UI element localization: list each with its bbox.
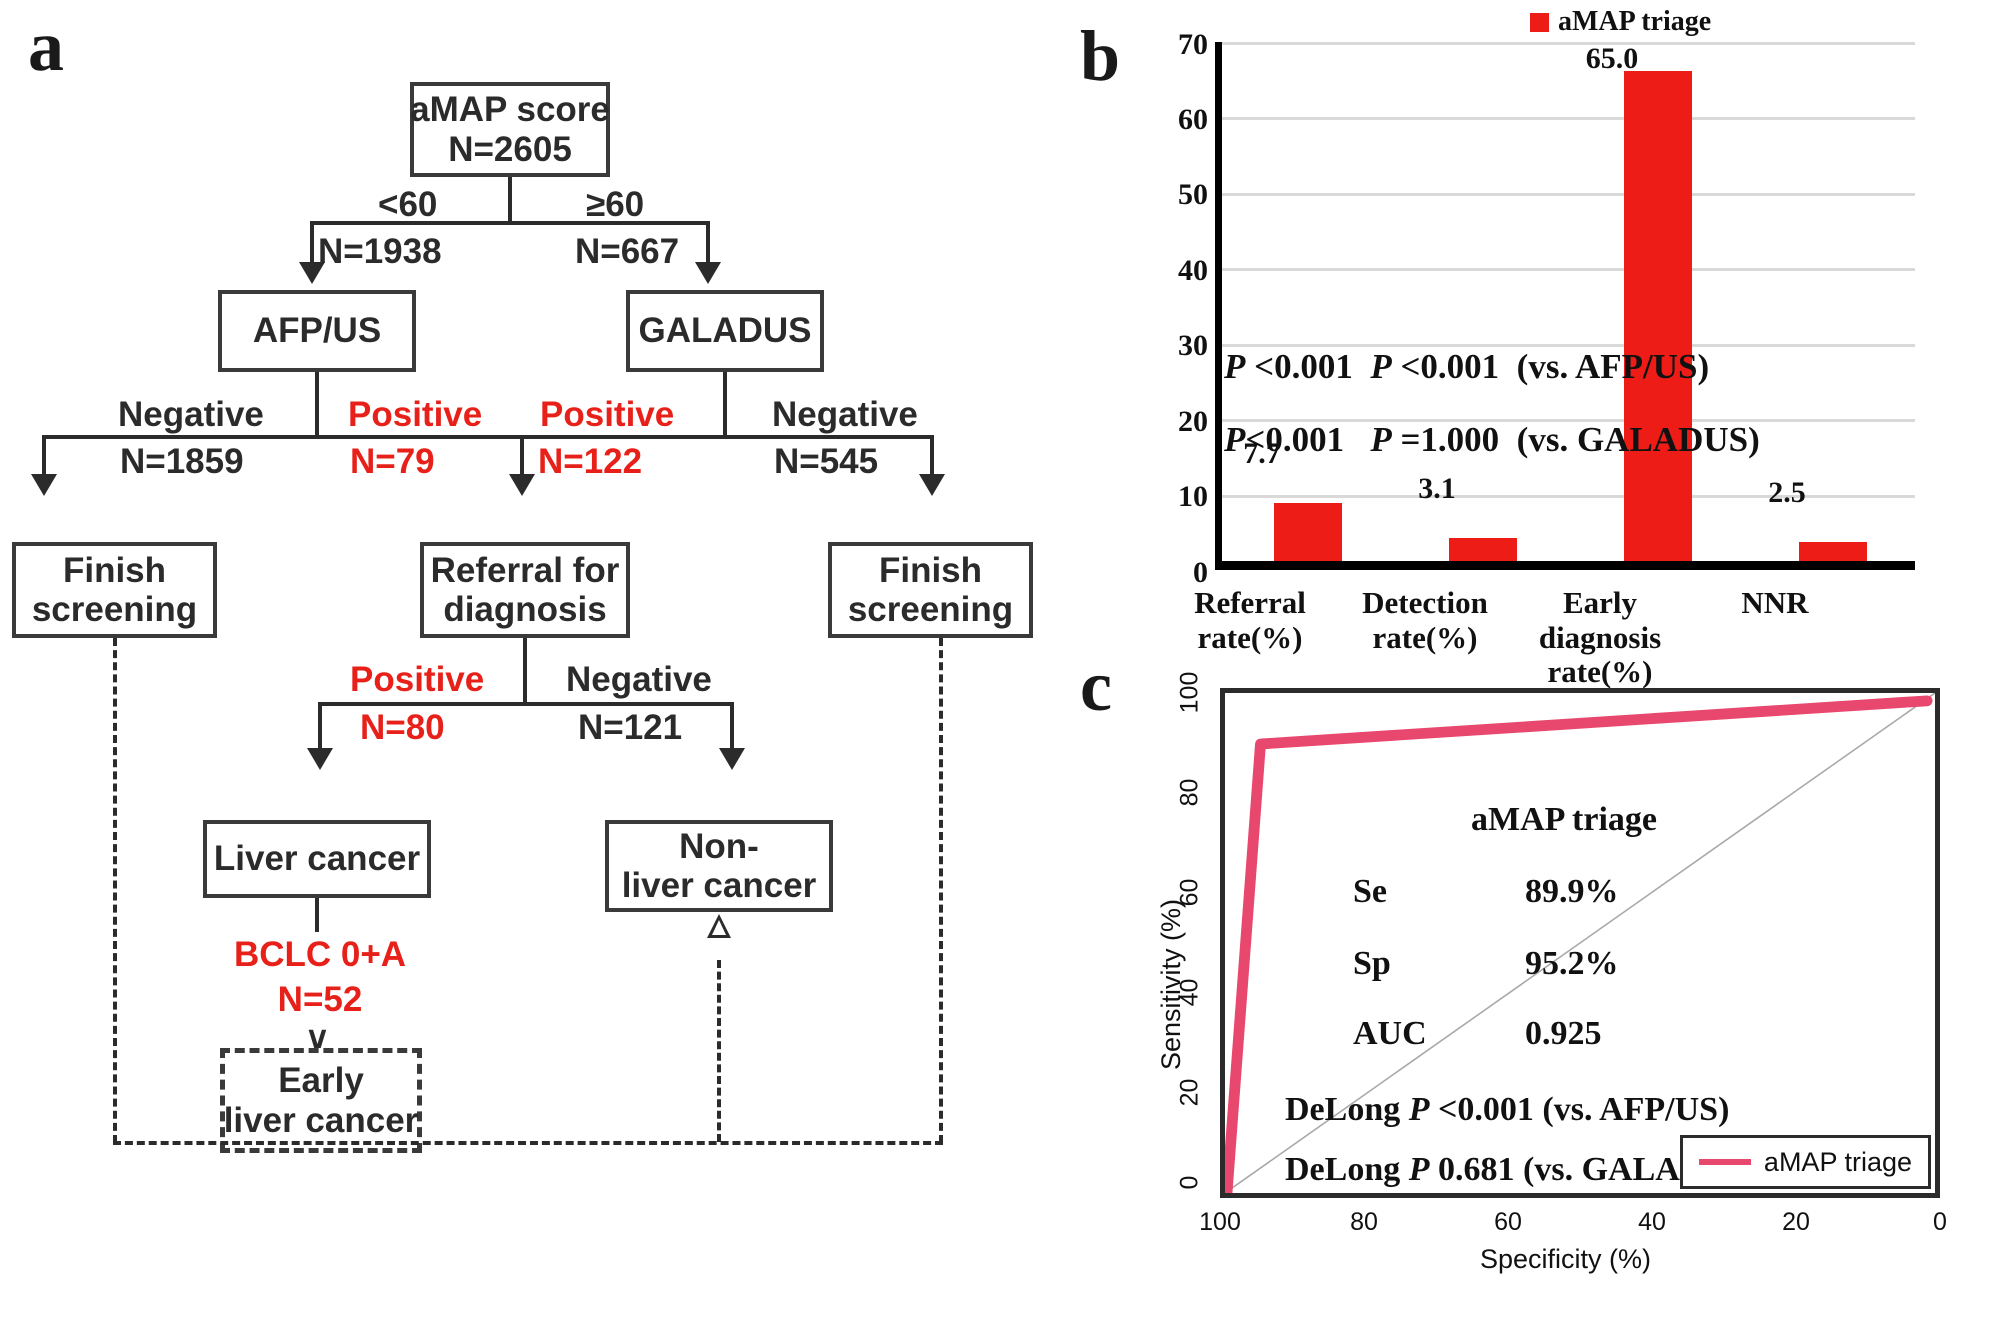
edge-ref-pos-drop [318, 702, 322, 754]
edge-gal-pos-arm [524, 435, 666, 439]
edge-afp-stem [315, 372, 319, 439]
edge-label-ge60: ≥60 [586, 185, 644, 224]
edge-label-lt60: <60 [378, 185, 437, 224]
roc-xtick-100: 100 [1190, 1208, 1250, 1237]
arrow-to-finish-right [919, 474, 945, 496]
edge-ref-neg-drop [730, 702, 734, 754]
node-afp-us: AFP/US [218, 290, 416, 372]
edge-n-afp-negative: N=1859 [120, 442, 244, 481]
roc-ytick-80: 80 [1176, 763, 1205, 823]
panel-a-letter: a [28, 10, 64, 82]
cat3-l1: NNR [1705, 586, 1845, 621]
node-finish-left-line1: Finish [63, 551, 166, 590]
node-early-liver-cancer: Early liver cancer [220, 1048, 422, 1153]
roc-x-axis-title: Specificity (%) [1480, 1244, 1651, 1275]
roc-stat-value-sp: 95.2% [1525, 945, 1619, 983]
node-finish-right-line2: screening [848, 590, 1013, 629]
edge-label-afp-negative: Negative [118, 395, 264, 434]
edge-label-gal-positive: Positive [540, 395, 674, 434]
panel-a-flowchart: a aMAP score N=2605 <60 N=1938 ≥60 N=667… [0, 0, 1060, 1317]
bar-chart-legend: aMAP triage [1530, 6, 1711, 38]
edge-n-lt60: N=1938 [318, 232, 442, 271]
bar-annotation-vs-galadus: P<0.001 P =1.000 (vs. GALADUS) [1224, 420, 1760, 460]
bar-early-diagnosis-rate [1624, 71, 1692, 561]
b-ytick-10: 10 [1138, 480, 1208, 514]
edge-label-ref-positive: Positive [350, 660, 484, 699]
cat1-l1: Detection [1355, 586, 1495, 621]
roc-ytick-100: 100 [1176, 663, 1205, 723]
edge-n-ref-positive: N=80 [360, 708, 445, 747]
node-liver-cancer-label: Liver cancer [214, 839, 420, 878]
b-ytick-20: 20 [1138, 405, 1208, 439]
edge-ref-neg-arm [582, 702, 734, 706]
bar-value-detection-rate: 3.1 [1389, 472, 1485, 506]
roc-stats-header: aMAP triage [1471, 801, 1657, 839]
edge-label-bclc: BCLC 0+A [225, 935, 415, 974]
roc-stat-value-se: 89.9% [1525, 873, 1619, 911]
bar-referral-rate [1274, 503, 1342, 561]
roc-xtick-80: 80 [1334, 1208, 1394, 1237]
edge-n-ref-negative: N=121 [578, 708, 682, 747]
cat2-l1: Early [1530, 586, 1670, 621]
arrow-up-to-non-liver-cancer [707, 914, 731, 938]
roc-stat-value-auc: 0.925 [1525, 1015, 1602, 1053]
b-ytick-70: 70 [1138, 28, 1208, 62]
edge-referral-stem [523, 638, 527, 706]
bar-category-nnr: NNR [1705, 586, 1845, 621]
cat0-l1: Referral [1180, 586, 1320, 621]
roc-xtick-60: 60 [1478, 1208, 1538, 1237]
dashed-path-bottom [113, 1141, 943, 1145]
roc-ytick-0: 0 [1176, 1153, 1205, 1213]
node-finish-left-line2: screening [32, 590, 197, 629]
node-amap-score-line2: N=2605 [448, 130, 572, 169]
edge-liver-stem [315, 898, 319, 932]
node-galadus: GALADUS [626, 290, 824, 372]
node-referral-line1: Referral for [431, 551, 620, 590]
panel-b-letter: b [1080, 20, 1120, 92]
panel-c-roc-curve: c Sensitivity (%) 100 80 60 40 20 0 aMAP… [1060, 640, 2008, 1317]
edge-n-ge60: N=667 [575, 232, 679, 271]
b-gridline-50 [1222, 193, 1915, 196]
node-finish-screening-right: Finish screening [828, 542, 1033, 638]
b-ytick-40: 40 [1138, 254, 1208, 288]
edge-afp-tee [256, 435, 378, 439]
arrow-to-non-liver-cancer [719, 748, 745, 770]
bar-value-early-diagnosis-rate: 65.0 [1564, 42, 1660, 76]
node-finish-right-line1: Finish [879, 551, 982, 590]
edge-afp-pos-arm [376, 435, 524, 439]
b-ytick-60: 60 [1138, 103, 1208, 137]
legend-label-amap-triage: aMAP triage [1558, 6, 1711, 38]
node-galadus-label: GALADUS [638, 311, 811, 350]
bar-value-nnr: 2.5 [1739, 476, 1835, 510]
roc-xtick-20: 20 [1766, 1208, 1826, 1237]
edge-afp-neg-arm [42, 435, 258, 439]
node-non-liver-line1: Non- [679, 827, 759, 866]
roc-legend-label-amap-triage: aMAP triage [1764, 1147, 1912, 1178]
edge-label-ref-negative: Negative [566, 660, 712, 699]
roc-stat-label-sp: Sp [1353, 945, 1391, 983]
edge-root-tee [440, 221, 580, 225]
arrow-to-liver-cancer [307, 748, 333, 770]
bar-annotation-vs-afpus: P <0.001 P <0.001 (vs. AFP/US) [1224, 347, 1709, 387]
edge-referral-tee [466, 702, 584, 706]
edge-n-gal-positive: N=122 [538, 442, 642, 481]
edge-n-afp-positive: N=79 [350, 442, 435, 481]
edge-gal-tee [664, 435, 786, 439]
roc-annotation-delong-afpus: DeLong P <0.001 (vs. AFP/US) [1285, 1091, 1729, 1129]
dashed-path-to-non-liver [717, 960, 721, 1142]
roc-legend: aMAP triage [1680, 1135, 1931, 1189]
roc-stat-label-se: Se [1353, 873, 1387, 911]
node-early-liver-line1: Early [278, 1061, 364, 1100]
panel-b-bar-chart: b aMAP triage 70 60 50 40 30 20 10 0 7.7… [1060, 0, 2008, 640]
bar-nnr [1799, 542, 1867, 561]
node-non-liver-line2: liver cancer [622, 866, 817, 905]
node-amap-score-line1: aMAP score [410, 90, 610, 129]
node-early-liver-line2: liver cancer [224, 1101, 419, 1140]
b-ytick-50: 50 [1138, 178, 1208, 212]
b-gridline-60 [1222, 117, 1915, 120]
node-afp-us-label: AFP/US [253, 311, 381, 350]
roc-stat-label-auc: AUC [1353, 1015, 1427, 1053]
node-referral-for-diagnosis: Referral for diagnosis [420, 542, 630, 638]
node-referral-line2: diagnosis [443, 590, 606, 629]
edge-n-bclc: N=52 [225, 980, 415, 1019]
node-non-liver-cancer: Non- liver cancer [605, 820, 833, 912]
edge-gal-stem [723, 372, 727, 439]
edge-label-afp-positive: Positive [348, 395, 482, 434]
roc-ytick-20: 20 [1176, 1063, 1205, 1123]
arrow-to-referral [509, 474, 535, 496]
roc-ytick-60: 60 [1176, 863, 1205, 923]
node-amap-score: aMAP score N=2605 [410, 82, 610, 177]
arrow-to-finish-left [31, 474, 57, 496]
b-gridline-40 [1222, 268, 1915, 271]
edge-n-gal-negative: N=545 [774, 442, 878, 481]
roc-ytick-40: 40 [1176, 963, 1205, 1023]
roc-plot-area: aMAP triage Se 89.9% Sp 95.2% AUC 0.925 … [1220, 688, 1940, 1198]
node-finish-screening-left: Finish screening [12, 542, 217, 638]
edge-root-stem [508, 177, 512, 223]
legend-swatch-icon [1530, 13, 1549, 32]
edge-label-gal-negative: Negative [772, 395, 918, 434]
dashed-path-finish-left [113, 638, 117, 1143]
roc-legend-line-icon [1699, 1159, 1751, 1165]
arrow-to-galadus [695, 262, 721, 284]
dashed-path-finish-right [939, 638, 943, 1143]
roc-xtick-0: 0 [1910, 1208, 1970, 1237]
node-liver-cancer: Liver cancer [203, 820, 431, 898]
edge-gal-neg-arm [784, 435, 934, 439]
b-ytick-30: 30 [1138, 329, 1208, 363]
roc-xtick-40: 40 [1622, 1208, 1682, 1237]
edge-ref-pos-arm [318, 702, 468, 706]
panel-c-letter: c [1080, 650, 1112, 722]
bar-detection-rate [1449, 538, 1517, 561]
